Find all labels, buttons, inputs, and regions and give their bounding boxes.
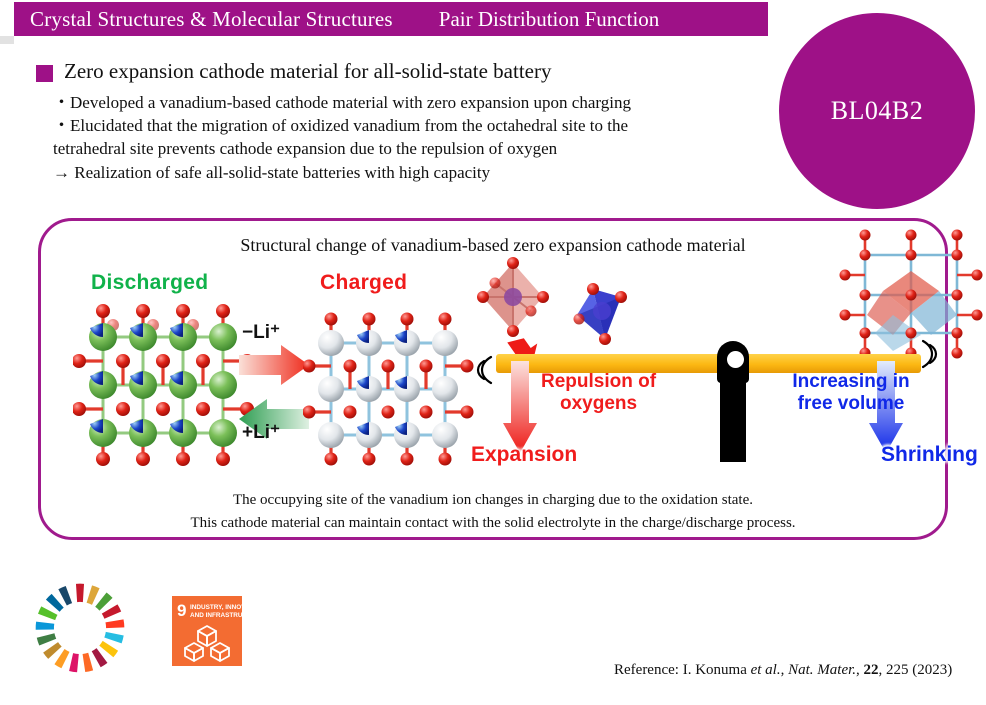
- label-add-lithium: +Li⁺: [242, 421, 280, 444]
- header-left-margin: [0, 0, 14, 36]
- label-freevolume-line2: free volume: [786, 393, 916, 415]
- reference-rest: , 225 (2023): [879, 662, 953, 678]
- diagram-caption-line1: The occupying site of the vanadium ion c…: [41, 489, 945, 512]
- intro-body: ・Developed a vanadium-based cathode mate…: [53, 91, 766, 183]
- sdg-goal-line2: AND INFRASTRUCTURE: [190, 612, 242, 619]
- intro-line-2: ・Elucidated that the migration of oxidiz…: [53, 114, 766, 137]
- reference-citation: Reference: I. Konuma et al., Nat. Mater.…: [614, 662, 952, 679]
- tetrahedron: [574, 283, 628, 345]
- header-subtitle: Pair Distribution Function: [439, 7, 660, 32]
- intro-line-4: → Realization of safe all-solid-state ba…: [53, 161, 766, 184]
- page-title: Crystal Structures & Molecular Structure…: [30, 7, 393, 32]
- arrow-delithiation: [237, 343, 311, 387]
- sdg-cubes-icon: [185, 626, 229, 661]
- label-expansion: Expansion: [471, 443, 577, 467]
- label-repulsion-line2: oxygens: [541, 393, 656, 415]
- bullet-square-icon: [36, 65, 53, 82]
- wobble-mark-right: [917, 337, 943, 376]
- sdg-color-wheel-icon: [32, 580, 128, 676]
- reference-volume: 22: [864, 662, 879, 678]
- crystal-model-charged: [303, 307, 481, 471]
- balance-fulcrum-hole: [727, 351, 744, 368]
- header-bar: Crystal Structures & Molecular Structure…: [14, 2, 768, 36]
- reference-comma-2: ,: [856, 662, 864, 678]
- intro-title: Zero expansion cathode material for all-…: [64, 58, 551, 84]
- diagram-caption-line2: This cathode material can maintain conta…: [41, 512, 945, 535]
- crystal-model-mixed-polyhedra: [831, 229, 986, 361]
- reference-prefix: Reference: I. Konuma: [614, 662, 751, 678]
- intro-line-3: tetrahedral site prevents cathode expans…: [53, 137, 766, 160]
- reference-et-al: et al.: [751, 662, 781, 678]
- intro-heading-row: Zero expansion cathode material for all-…: [36, 58, 766, 84]
- crystal-model-discharged: [73, 299, 263, 471]
- label-charged: Charged: [320, 271, 407, 295]
- left-edge-strip: [0, 36, 14, 44]
- label-shrinking: Shrinking: [881, 443, 978, 467]
- sdg-goal-9-tile: 9 INDUSTRY, INNOVATION AND INFRASTRUCTUR…: [172, 596, 242, 666]
- beamline-badge: BL04B2: [779, 13, 975, 209]
- intro-line-1: ・Developed a vanadium-based cathode mate…: [53, 91, 766, 114]
- sdg-goal-line1: INDUSTRY, INNOVATION: [190, 604, 242, 611]
- label-remove-lithium: −Li⁺: [242, 321, 280, 344]
- wobble-mark-left: [471, 353, 497, 392]
- sdg-goal-number: 9: [177, 601, 186, 620]
- beamline-badge-label: BL04B2: [831, 96, 924, 126]
- diagram-caption: The occupying site of the vanadium ion c…: [41, 489, 945, 534]
- label-repulsion-of-oxygens: Repulsion of oxygens: [541, 371, 656, 416]
- label-discharged: Discharged: [91, 271, 208, 295]
- label-increasing-free-volume: Increasing in free volume: [786, 371, 916, 416]
- reference-journal: Nat. Mater.: [788, 662, 856, 678]
- intro-block: Zero expansion cathode material for all-…: [36, 58, 766, 184]
- label-freevolume-line1: Increasing in: [786, 371, 916, 393]
- octahedron: [477, 257, 549, 337]
- slide-canvas: Crystal Structures & Molecular Structure…: [0, 0, 986, 705]
- label-repulsion-line1: Repulsion of: [541, 371, 656, 393]
- diagram-panel: Structural change of vanadium-based zero…: [38, 218, 948, 540]
- reference-comma-1: ,: [781, 662, 789, 678]
